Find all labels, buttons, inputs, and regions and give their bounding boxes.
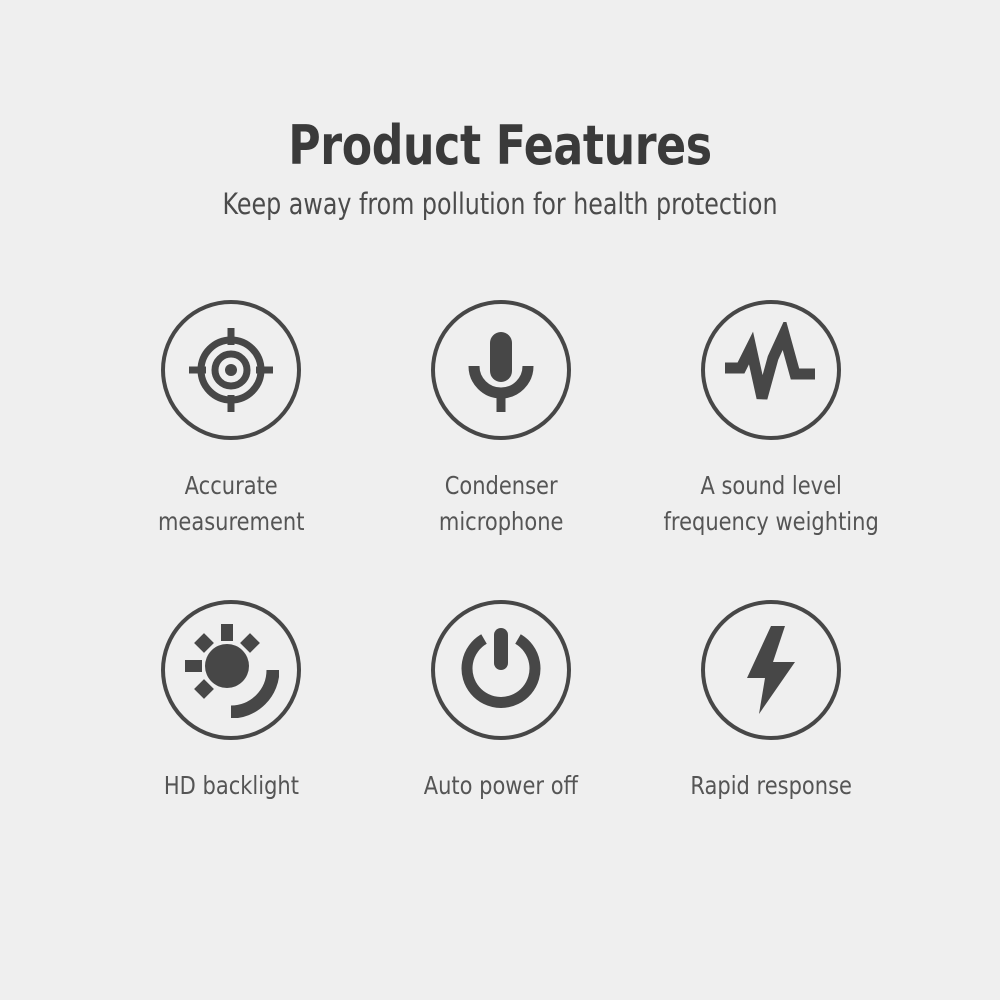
power-icon xyxy=(453,622,549,718)
page-subtitle: Keep away from pollution for health prot… xyxy=(90,189,910,221)
product-features-graphic: Product Features Keep away from pollutio… xyxy=(0,0,1000,1000)
icon-circle xyxy=(161,300,301,440)
header: Product Features Keep away from pollutio… xyxy=(0,118,1000,221)
icon-circle xyxy=(431,600,571,740)
icon-circle xyxy=(161,600,301,740)
waveform-icon xyxy=(721,322,821,418)
lightning-bolt-icon xyxy=(723,622,819,718)
feature-item-frequency-weighting: A sound level frequency weighting xyxy=(636,300,906,600)
icon-circle xyxy=(431,300,571,440)
feature-label: Condenser microphone xyxy=(439,468,564,541)
feature-item-auto-power-off: Auto power off xyxy=(366,600,636,900)
microphone-icon xyxy=(453,322,549,418)
feature-label: Auto power off xyxy=(424,768,578,804)
feature-item-condenser-microphone: Condenser microphone xyxy=(366,300,636,600)
feature-label: HD backlight xyxy=(163,768,298,804)
feature-label: Rapid response xyxy=(690,768,852,804)
feature-grid: Accurate measurement Condenser microphon… xyxy=(96,300,906,900)
feature-label: Accurate measurement xyxy=(158,468,305,541)
feature-item-accurate-measurement: Accurate measurement xyxy=(96,300,366,600)
feature-label: A sound level frequency weighting xyxy=(663,468,878,541)
brightness-icon xyxy=(183,622,279,718)
page-title: Product Features xyxy=(90,118,910,175)
feature-item-rapid-response: Rapid response xyxy=(636,600,906,900)
icon-circle xyxy=(701,600,841,740)
feature-item-hd-backlight: HD backlight xyxy=(96,600,366,900)
target-icon xyxy=(183,322,279,418)
icon-circle xyxy=(701,300,841,440)
target-center-dot xyxy=(225,364,237,376)
